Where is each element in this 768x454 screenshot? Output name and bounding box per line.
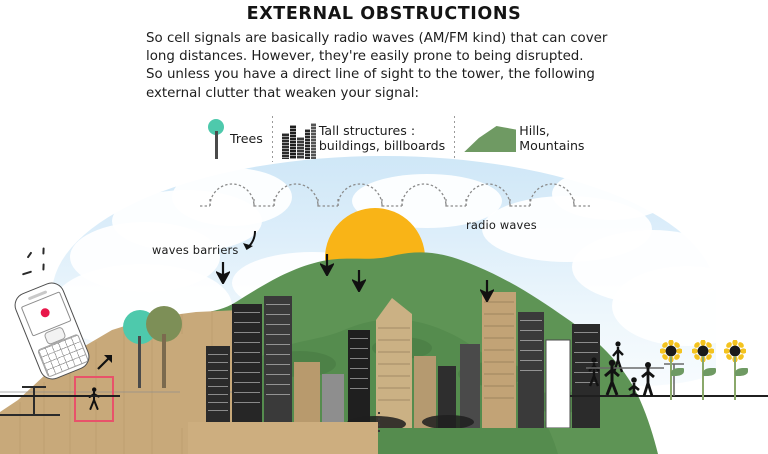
sunflower-leaf (703, 368, 716, 376)
tree-trunk-icon (138, 336, 141, 388)
person-silhouette (600, 358, 630, 398)
sunflower (722, 338, 748, 398)
label-radio-waves: radio waves (466, 218, 537, 232)
sunflower-stem (702, 356, 704, 400)
signal-dash-icon (42, 247, 44, 254)
down-arrow-icon (352, 270, 366, 292)
sunflower-leaf (671, 368, 684, 376)
hill-icon (464, 126, 516, 152)
down-arrow-icon (480, 280, 494, 302)
curved-down-arrow-icon (240, 230, 260, 252)
city-skyline (180, 268, 600, 428)
down-arrow-icon (216, 262, 230, 284)
infographic-canvas: EXTERNAL OBSTRUCTIONS So cell signals ar… (0, 0, 768, 454)
sunflower-stem (734, 356, 736, 400)
dotted-pole (572, 326, 575, 392)
signal-dash-icon (42, 263, 44, 270)
up-right-arrow-icon (96, 353, 114, 371)
intro-paragraph: So cell signals are basically radio wave… (146, 30, 666, 103)
down-arrow-icon (320, 254, 334, 276)
illustration-scene: waves barriers radio waves (0, 150, 768, 454)
dotted-marker (378, 412, 380, 434)
left-rail (0, 375, 120, 420)
ground-line-left (0, 395, 120, 397)
legend-label-trees: Trees (230, 132, 263, 147)
tree-trunk-icon (162, 334, 166, 388)
sunflower-stem (670, 356, 672, 400)
sunflower (690, 338, 716, 398)
label-waves-barriers: waves barriers (152, 243, 239, 257)
sunflower-leaf (735, 368, 748, 376)
sunflower (658, 338, 684, 398)
page-title: EXTERNAL OBSTRUCTIONS (0, 4, 768, 24)
city-base-platform (188, 422, 378, 454)
